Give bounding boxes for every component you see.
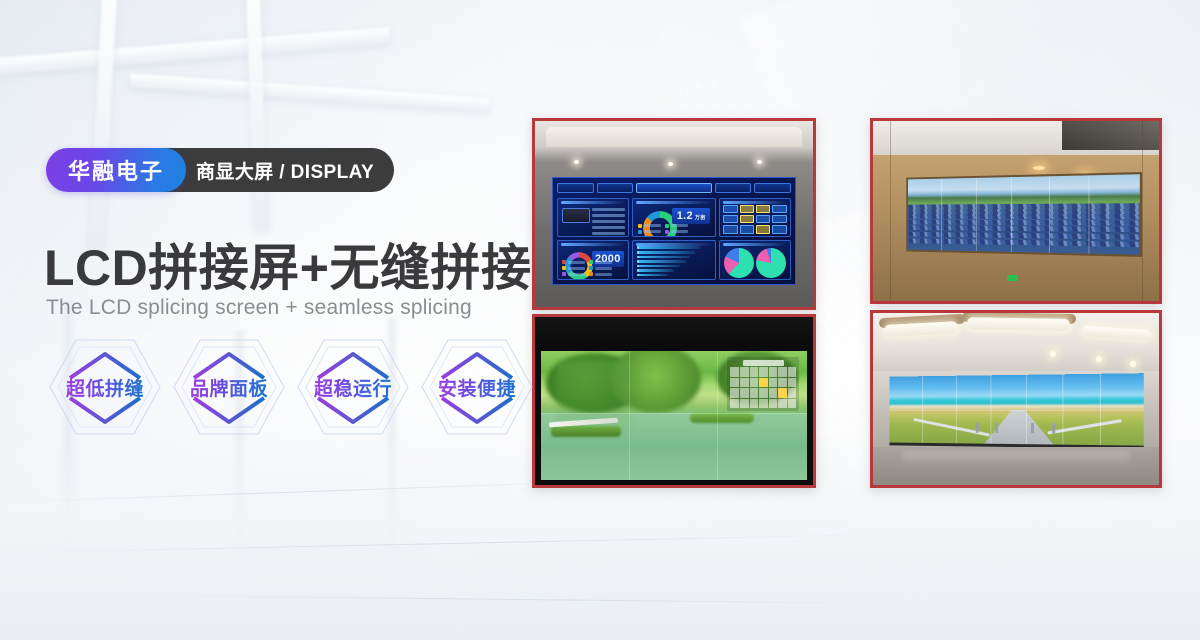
pie-chart-1 <box>724 248 754 278</box>
feature-badge-2: 品牌面板 <box>170 334 288 440</box>
dashboard-panel-bars <box>632 240 715 280</box>
feature-badge-3: 超稳运行 <box>294 334 412 440</box>
metric-number-1: 1.2 <box>677 210 693 222</box>
flow-diagram <box>723 205 787 234</box>
feature-label-4: 安装便捷 <box>438 374 516 401</box>
solar-video-wall-screen <box>906 172 1142 257</box>
dashboard-room-scene: 1.2 万亩 <box>535 121 813 307</box>
dark-ceiling-band <box>535 317 813 351</box>
feature-label-3: 超稳运行 <box>314 374 392 401</box>
metric-unit-1: 万亩 <box>695 214 706 221</box>
corridor-scene <box>873 121 1159 301</box>
exit-sign-icon <box>1007 275 1018 281</box>
page-subtitle: The LCD splicing screen + seamless splic… <box>46 296 472 320</box>
dashboard-nav-chip <box>715 183 752 193</box>
ceiling-spot-1 <box>574 160 579 164</box>
dashboard-panel-intro <box>557 198 630 238</box>
corridor-ceiling-dark-panel <box>1062 121 1159 150</box>
dashboard-title-chip <box>636 183 711 193</box>
dashboard-screen: 1.2 万亩 <box>552 177 797 285</box>
ceiling-spot-3 <box>757 160 762 164</box>
calendar-overlay <box>727 357 799 411</box>
dashboard-nav-chip <box>557 183 594 193</box>
ceiling-light-cove-2 <box>967 317 1070 331</box>
dashboard-panel-donut-2: 2000 <box>557 240 630 280</box>
feature-badge-4: 安装便捷 <box>418 334 536 440</box>
pie-chart-2 <box>756 248 786 278</box>
feature-badge-1: 超低拼缝 <box>46 334 164 440</box>
dashboard-header <box>557 182 792 195</box>
brand-badge: 华融电子 <box>46 148 186 192</box>
badge-row: 华融电子 商显大屏 / DISPLAY <box>46 148 394 192</box>
lakeside-room-scene <box>535 317 813 485</box>
lobby-floor <box>873 447 1159 485</box>
hedge-right <box>690 413 754 423</box>
beach-video-wall-screen <box>889 373 1144 449</box>
feature-label-2: 品牌面板 <box>190 374 268 401</box>
product-photo-solar-wall <box>870 118 1162 304</box>
dashboard-panel-flow <box>719 198 792 238</box>
calendar-title <box>743 360 784 366</box>
dashboard-panel-pies <box>719 240 792 280</box>
feature-label-1: 超低拼缝 <box>66 374 144 401</box>
donut-legend-2 <box>562 260 624 276</box>
product-photo-lakeside-wall <box>532 314 816 488</box>
metric-value-1: 1.2 万亩 <box>672 208 709 224</box>
donut-legend <box>638 224 710 234</box>
solar-panel-rows <box>908 200 1140 255</box>
dashboard-nav-chip <box>754 183 791 193</box>
panel-thumbnail <box>562 208 590 222</box>
ceiling-strip <box>546 127 802 147</box>
bar-chart <box>637 246 710 276</box>
boardwalk-path <box>980 409 1057 448</box>
ceiling-spot-2 <box>668 162 673 166</box>
feature-list: 超低拼缝 品牌面板 <box>46 334 536 440</box>
dashboard-panel-grid: 1.2 万亩 <box>557 198 792 280</box>
product-photo-dashboard: 1.2 万亩 <box>532 118 816 310</box>
rope-railing-right <box>1047 419 1122 434</box>
page-title: LCD拼接屏+无缝拼接 <box>44 228 531 300</box>
product-photo-beach-wall <box>870 310 1162 488</box>
dashboard-panel-donut: 1.2 万亩 <box>632 198 715 238</box>
lobby-scene <box>873 313 1159 485</box>
hedge-left <box>551 426 620 438</box>
lakeside-video-wall-screen <box>541 351 808 480</box>
panel-text-lines <box>592 208 624 235</box>
calendar-grid <box>730 367 796 408</box>
promo-banner: 华融电子 商显大屏 / DISPLAY LCD拼接屏+无缝拼接 The LCD … <box>0 0 1200 640</box>
pie-chart-group <box>724 249 786 275</box>
dashboard-nav-chip <box>597 183 634 193</box>
